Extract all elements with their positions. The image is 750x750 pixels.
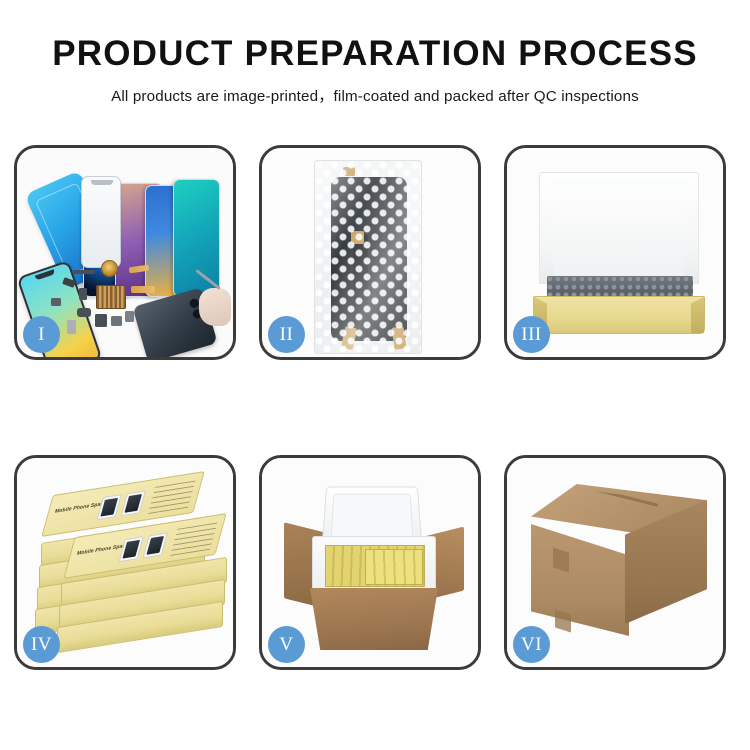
part-speaker-icon (111, 316, 122, 326)
box-artwork-thumbnail (119, 536, 144, 562)
page-header: PRODUCT PREPARATION PROCESS All products… (0, 0, 750, 106)
box-spec-lines (148, 481, 195, 515)
carton-front-panel-icon (310, 588, 438, 650)
foam-face-icon (554, 195, 684, 279)
step-badge-3: III (513, 316, 550, 353)
box-stack-group: Mobile Phone Spare Parts Mobile Phone Sp… (33, 478, 225, 658)
step-badge-5: V (268, 626, 305, 663)
page-subtitle: All products are image-printed，film-coat… (0, 84, 750, 106)
carton-tape-icon (555, 609, 571, 632)
process-step-panel-2[interactable]: II (259, 145, 481, 360)
process-step-panel-6[interactable]: VI (504, 455, 726, 670)
product-preparation-page: PRODUCT PREPARATION PROCESS All products… (0, 0, 750, 750)
carton-left-face-icon (531, 524, 629, 636)
process-step-panel-4[interactable]: Mobile Phone Spare Parts Mobile Phone Sp… (14, 455, 236, 670)
foam-lid-icon (539, 172, 699, 284)
part-connector-icon (79, 288, 87, 300)
part-camera-icon (95, 314, 107, 327)
page-title: PRODUCT PREPARATION PROCESS (0, 36, 750, 73)
box-artwork-thumbnail (143, 532, 168, 558)
process-step-grid: I II (14, 145, 736, 670)
part-vibrator-icon (125, 311, 134, 322)
step-badge-1: I (23, 316, 60, 353)
step-badge-2: II (268, 316, 305, 353)
flex-cable-icon (131, 286, 155, 293)
plastic-sheen-icon (315, 161, 421, 353)
open-carton-group (284, 476, 464, 656)
part-bracket-icon (62, 277, 76, 288)
process-step-panel-5[interactable]: V (259, 455, 481, 670)
step-badge-6: VI (513, 626, 550, 663)
bubble-wrap-bag (314, 160, 422, 354)
flex-cable-icon (129, 265, 150, 274)
box-spec-lines (170, 523, 217, 557)
part-clip-icon (51, 298, 61, 306)
process-step-panel-1[interactable]: I (14, 145, 236, 360)
box-artwork-thumbnail (97, 494, 122, 520)
part-strip-icon (73, 270, 95, 274)
part-button-icon (77, 308, 91, 317)
yellow-boxes-row-icon (365, 549, 423, 585)
inner-box-group (533, 172, 705, 337)
box-artwork-thumbnail (121, 490, 146, 516)
yellow-box-tray-icon (533, 296, 705, 334)
process-step-panel-3[interactable]: III (504, 145, 726, 360)
hand-icon (199, 288, 231, 326)
part-sim-tray-icon (67, 320, 76, 334)
sealed-carton-group (531, 484, 707, 646)
step-badge-4: IV (23, 626, 60, 663)
